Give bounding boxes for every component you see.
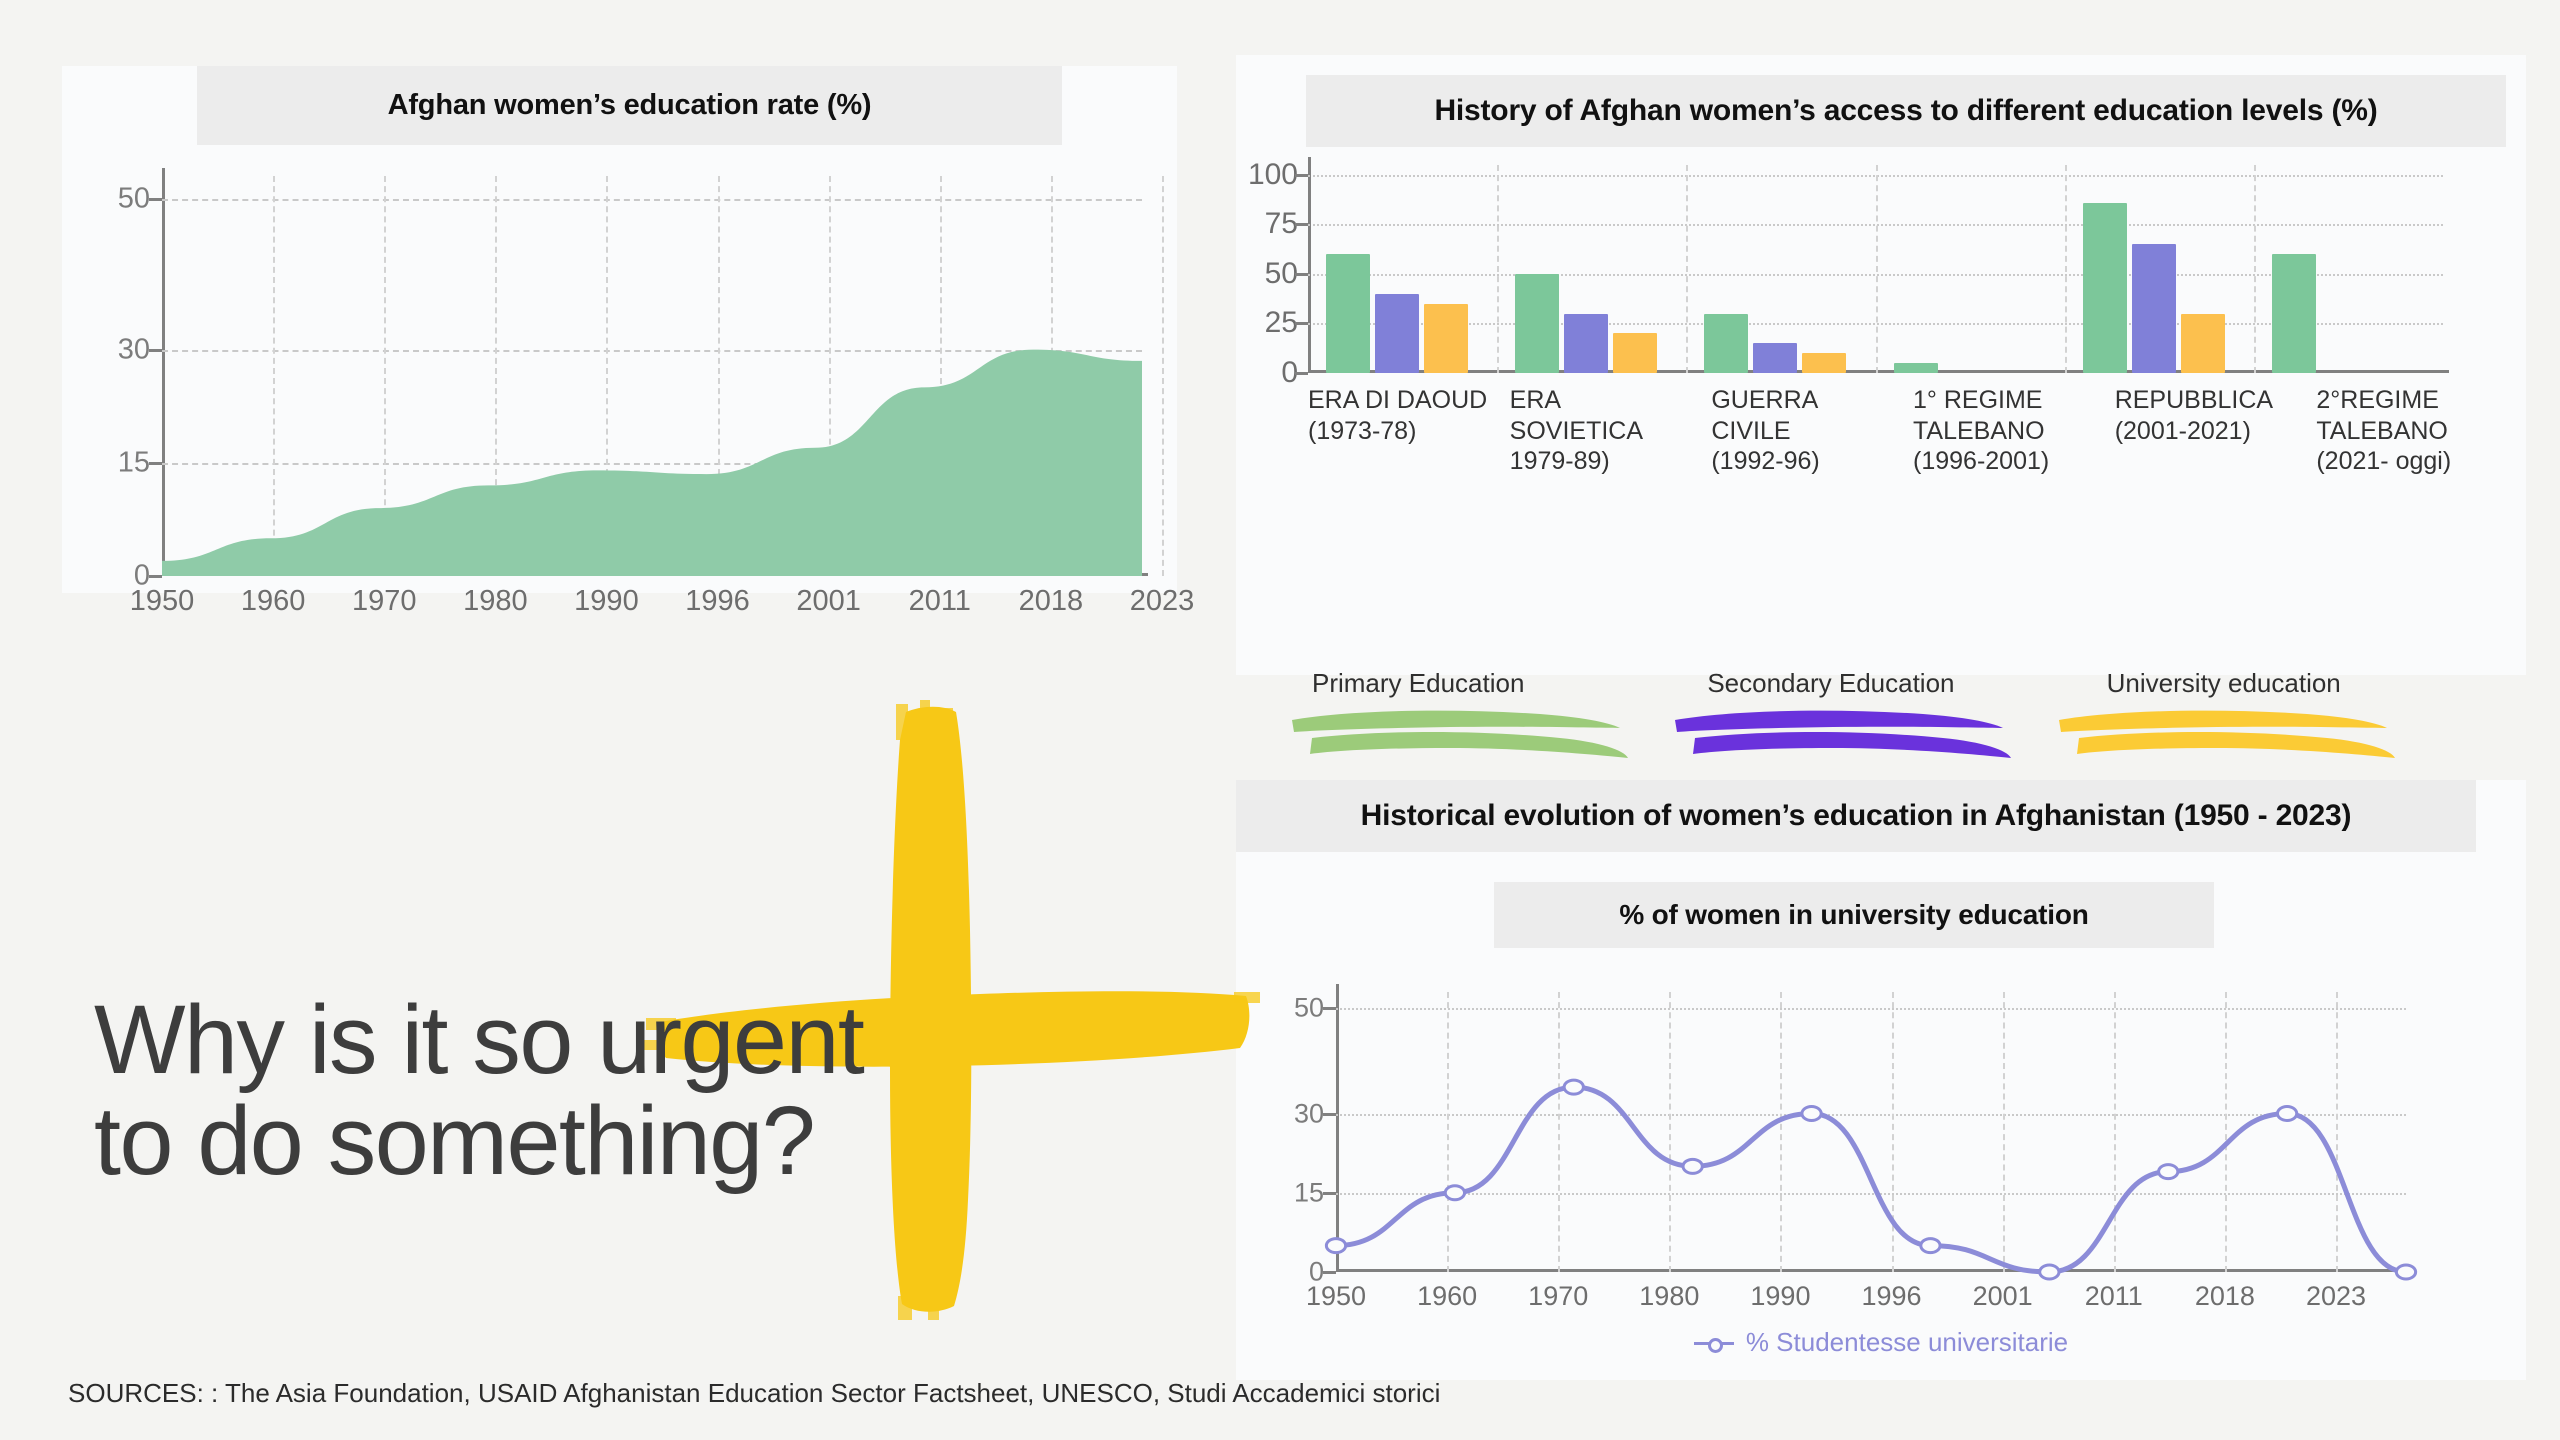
bar-category-label-line: (1992-96) — [1711, 446, 1901, 477]
bar-category-label: 2°REGIMETALEBANO(2021- oggi) — [2316, 385, 2518, 477]
bar-category-label: GUERRA CIVILE(1992-96) — [1711, 385, 1913, 477]
bar-university — [1613, 333, 1657, 373]
x-tick-label: 1996 — [685, 576, 750, 618]
sources-note: SOURCES: : The Asia Foundation, USAID Af… — [68, 1378, 1440, 1409]
bar-category-label-line: GUERRA CIVILE — [1711, 385, 1901, 446]
x-tick-label: 1960 — [241, 576, 306, 618]
bar-category-label-line: REPUBBLICA — [2115, 385, 2305, 416]
bar-category-label: ERA SOVIETICA1979-89) — [1510, 385, 1712, 477]
bar-category-labels: ERA DI DAOUD(1973-78)ERA SOVIETICA1979-8… — [1308, 385, 2518, 477]
y-tick-mark — [149, 349, 162, 352]
x-tick-label: 2018 — [1019, 576, 1084, 618]
bar-secondary — [1753, 343, 1797, 373]
bar-university — [2181, 314, 2225, 373]
bar-secondary — [1564, 314, 1608, 373]
x-tick-label: 2001 — [1973, 1272, 2033, 1312]
line-legend-marker-icon — [1694, 1335, 1734, 1351]
bar-group — [1686, 165, 1875, 373]
y-tick-mark — [1323, 1113, 1336, 1116]
headline: Why is it so urgent to do something? — [94, 990, 1194, 1192]
bar-category-label-line: (2021- oggi) — [2316, 446, 2506, 477]
y-tick-mark — [1295, 174, 1308, 177]
bar-groups — [1308, 165, 2443, 373]
bar-category-label: ERA DI DAOUD(1973-78) — [1308, 385, 1510, 477]
line-data-point — [1564, 1080, 1583, 1094]
x-tick-label: 2018 — [2195, 1272, 2255, 1312]
x-tick-label: 1960 — [1417, 1272, 1477, 1312]
bar-group — [2065, 165, 2254, 373]
line-data-point — [1445, 1186, 1464, 1200]
bar-group — [1497, 165, 1686, 373]
line-chart-subtitle: % of women in university education — [1494, 882, 2214, 948]
x-tick-label: 2023 — [2306, 1272, 2366, 1312]
line-path — [1336, 1087, 2406, 1272]
y-tick-mark — [1323, 1192, 1336, 1195]
y-tick-mark — [149, 462, 162, 465]
line-data-point — [2159, 1165, 2178, 1179]
x-tick-label: 2011 — [909, 576, 971, 618]
bar-university — [1802, 353, 1846, 373]
line-data-point — [1326, 1239, 1345, 1253]
gridline — [1162, 176, 1164, 576]
x-tick-label: 1950 — [1306, 1272, 1366, 1312]
bar-category-label: 1° REGIMETALEBANO(1996-2001) — [1913, 385, 2115, 477]
legend-brush-stroke-icon — [1673, 704, 2013, 766]
bar-category-label-line: 1979-89) — [1510, 446, 1700, 477]
x-tick-label: 1980 — [463, 576, 528, 618]
bar-category-label-line: TALEBANO — [1913, 416, 2103, 447]
area-chart-panel: Afghan women’s education rate (%) 015305… — [62, 66, 1177, 593]
area-fill — [162, 350, 1142, 576]
legend-brush-stroke-icon — [2057, 704, 2397, 766]
headline-line-1: Why is it so urgent — [94, 990, 1194, 1091]
area-chart-plot: 0153050 19501960197019801990199620012011… — [162, 176, 1142, 576]
bar-category-label-line: ERA DI DAOUD — [1308, 385, 1498, 416]
y-tick-mark — [1295, 372, 1308, 375]
bar-group — [1876, 165, 2065, 373]
line-chart-panel: Historical evolution of women’s educatio… — [1236, 780, 2526, 1380]
x-tick-label: 1980 — [1639, 1272, 1699, 1312]
bar-primary — [1515, 274, 1559, 373]
bar-category-label-line: 1° REGIME — [1913, 385, 2103, 416]
x-tick-label: 1990 — [1750, 1272, 1810, 1312]
bar-secondary — [1375, 294, 1419, 373]
bar-category-label-line: 2°REGIME — [2316, 385, 2506, 416]
bar-category-label-line: TALEBANO — [2316, 416, 2506, 447]
legend-label: Primary Education — [1312, 668, 1524, 699]
line-chart-legend[interactable]: % Studentesse universitarie — [1236, 1327, 2526, 1358]
headline-line-2: to do something? — [94, 1091, 1194, 1192]
line-chart-title: Historical evolution of women’s educatio… — [1236, 780, 2476, 852]
legend-brush-stroke-icon — [1290, 704, 1630, 766]
x-tick-label: 2011 — [2085, 1272, 2143, 1312]
bar-chart-panel: History of Afghan women’s access to diff… — [1236, 55, 2526, 675]
x-tick-label: 2001 — [796, 576, 861, 618]
bar-group — [1308, 165, 1497, 373]
x-tick-label: 1950 — [130, 576, 195, 618]
y-tick-mark — [149, 198, 162, 201]
bar-category-label-line: ERA SOVIETICA — [1510, 385, 1700, 446]
y-tick-mark — [1295, 273, 1308, 276]
y-tick-mark — [1295, 223, 1308, 226]
y-tick-mark — [1323, 1007, 1336, 1010]
x-tick-label: 1970 — [1528, 1272, 1588, 1312]
area-chart-title: Afghan women’s education rate (%) — [197, 66, 1062, 145]
bar-group — [2254, 165, 2443, 373]
bar-primary — [1326, 254, 1370, 373]
bar-category-label-line: (2001-2021) — [2115, 416, 2305, 447]
bar-chart-title: History of Afghan women’s access to diff… — [1306, 75, 2506, 147]
x-tick-label: 2023 — [1130, 576, 1195, 618]
line-data-point — [2040, 1265, 2059, 1279]
line-series-path — [1336, 992, 2406, 1272]
bar-primary — [2272, 254, 2316, 373]
legend-label: University education — [2107, 668, 2341, 699]
bar-category-label-line: (1996-2001) — [1913, 446, 2103, 477]
line-chart-plot: 0153050 19501960197019801990199620012011… — [1336, 992, 2406, 1272]
y-tick-mark — [1295, 322, 1308, 325]
x-tick-label: 1990 — [574, 576, 639, 618]
legend-label: Secondary Education — [1707, 668, 1954, 699]
bar-primary — [2083, 203, 2127, 373]
x-tick-label: 1970 — [352, 576, 417, 618]
bar-primary — [1704, 314, 1748, 373]
legend-item-university: University education — [2057, 668, 2440, 786]
bar-category-label-line: (1973-78) — [1308, 416, 1498, 447]
x-tick-label: 1996 — [1862, 1272, 1922, 1312]
line-data-point — [1683, 1159, 1702, 1173]
bar-university — [1424, 304, 1468, 373]
bar-chart-plot: 0255075100 — [1308, 165, 2443, 373]
bar-secondary — [2132, 244, 2176, 373]
line-data-point — [2277, 1107, 2296, 1121]
line-data-point — [1921, 1239, 1940, 1253]
line-data-point — [2396, 1265, 2415, 1279]
line-legend-label: % Studentesse universitarie — [1746, 1327, 2068, 1358]
bar-chart-legend: Primary EducationSecondary EducationUniv… — [1290, 668, 2440, 786]
area-series-path — [162, 176, 1142, 576]
bar-category-label: REPUBBLICA(2001-2021) — [2115, 385, 2317, 477]
bar-primary — [1894, 363, 1938, 373]
line-data-point — [1802, 1107, 1821, 1121]
legend-item-primary: Primary Education — [1290, 668, 1673, 786]
legend-item-secondary: Secondary Education — [1673, 668, 2056, 786]
